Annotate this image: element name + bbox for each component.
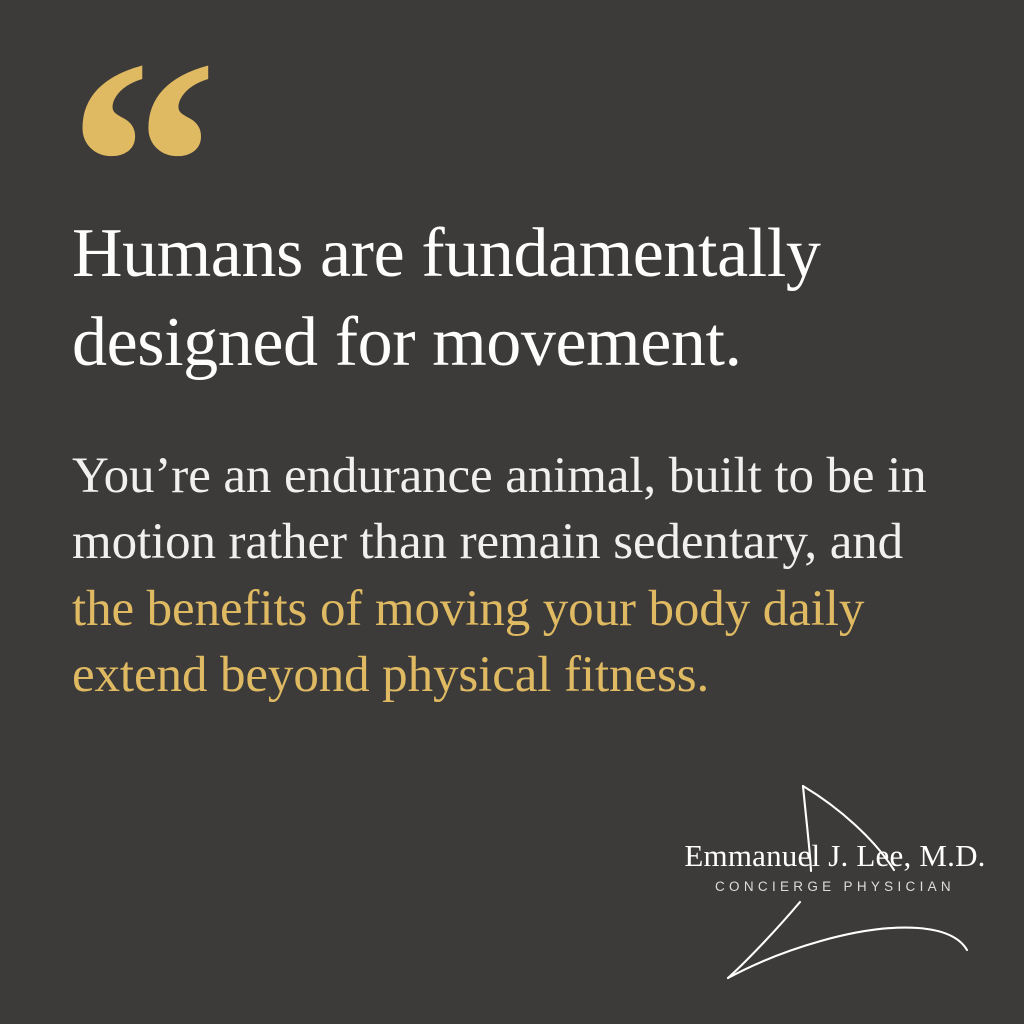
logo-tagline: CONCIERGE PHYSICIAN [660,880,1010,894]
brand-logo: Emmanuel J. Lee, M.D. CONCIERGE PHYSICIA… [660,778,1010,1000]
quote-body: You’re an endurance animal, built to be … [72,443,962,708]
page-title: Humans are fundamentally designed for mo… [72,210,952,388]
quote-body-accent: the benefits of moving your body daily e… [72,581,864,703]
logo-name: Emmanuel J. Lee, M.D. [660,840,1010,871]
quote-card: “ Humans are fundamentally designed for … [0,0,1024,1024]
quote-body-lead: You’re an endurance animal, built to be … [72,448,927,570]
